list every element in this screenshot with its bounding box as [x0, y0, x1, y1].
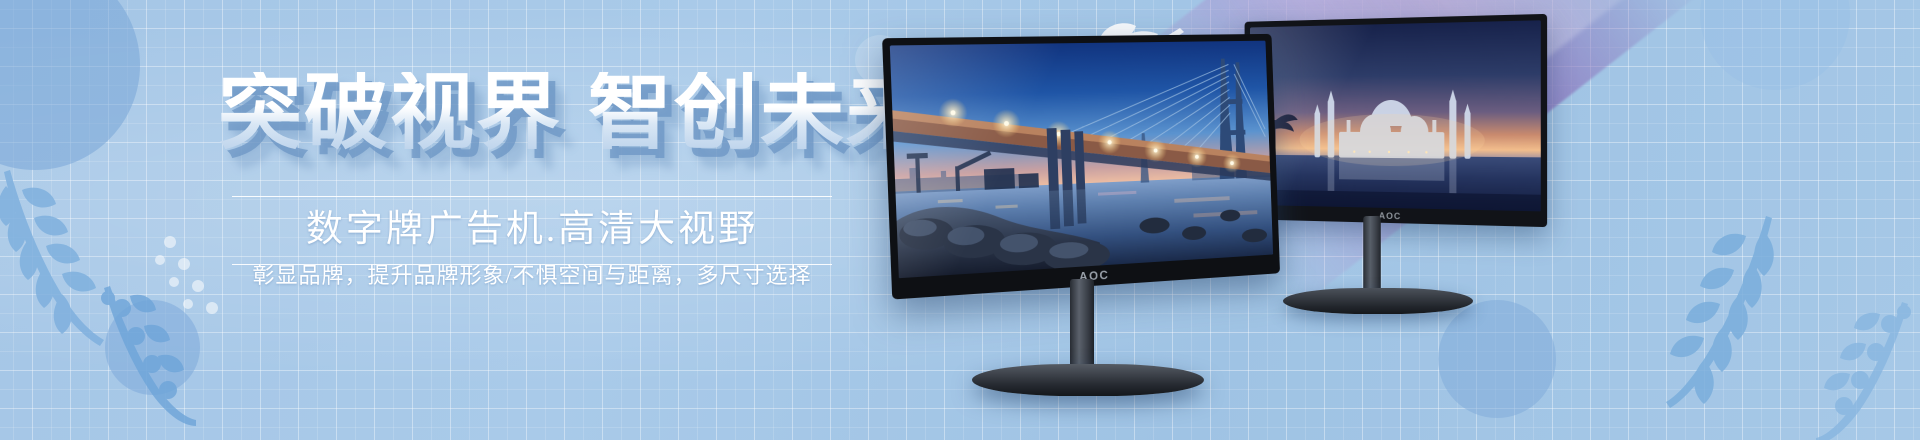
banner-text-block: 突破视界智创未来 数字牌广告机.高清大视野 彰显品牌，提升品牌形象/不惧空间与距… [0, 0, 900, 440]
monitor-front: AOC [890, 36, 1290, 396]
monitor-back-stand-base [1283, 288, 1473, 314]
monitor-front-stand-neck [1070, 279, 1094, 371]
product-images: AOC [880, 0, 1920, 440]
monitor-back-stand-neck [1363, 216, 1381, 294]
monitor-back-screen [1250, 20, 1541, 211]
monitor-front-screen [890, 41, 1273, 279]
banner-subtitle: 数字牌广告机.高清大视野 [232, 197, 832, 264]
monitor-front-stand-base [972, 364, 1204, 396]
headline-part-1: 突破视界 [218, 67, 562, 160]
subtitle-wrapper: 数字牌广告机.高清大视野 [232, 196, 832, 265]
monitor-front-bezel: AOC [882, 34, 1280, 300]
banner-description: 彰显品牌，提升品牌形象/不惧空间与距离，多尺寸选择 [232, 258, 832, 290]
monitor-back-logo: AOC [1379, 211, 1401, 222]
page-title: 突破视界智创未来 [218, 72, 932, 156]
promo-banner: 突破视界智创未来 数字牌广告机.高清大视野 彰显品牌，提升品牌形象/不惧空间与距… [0, 0, 1920, 440]
